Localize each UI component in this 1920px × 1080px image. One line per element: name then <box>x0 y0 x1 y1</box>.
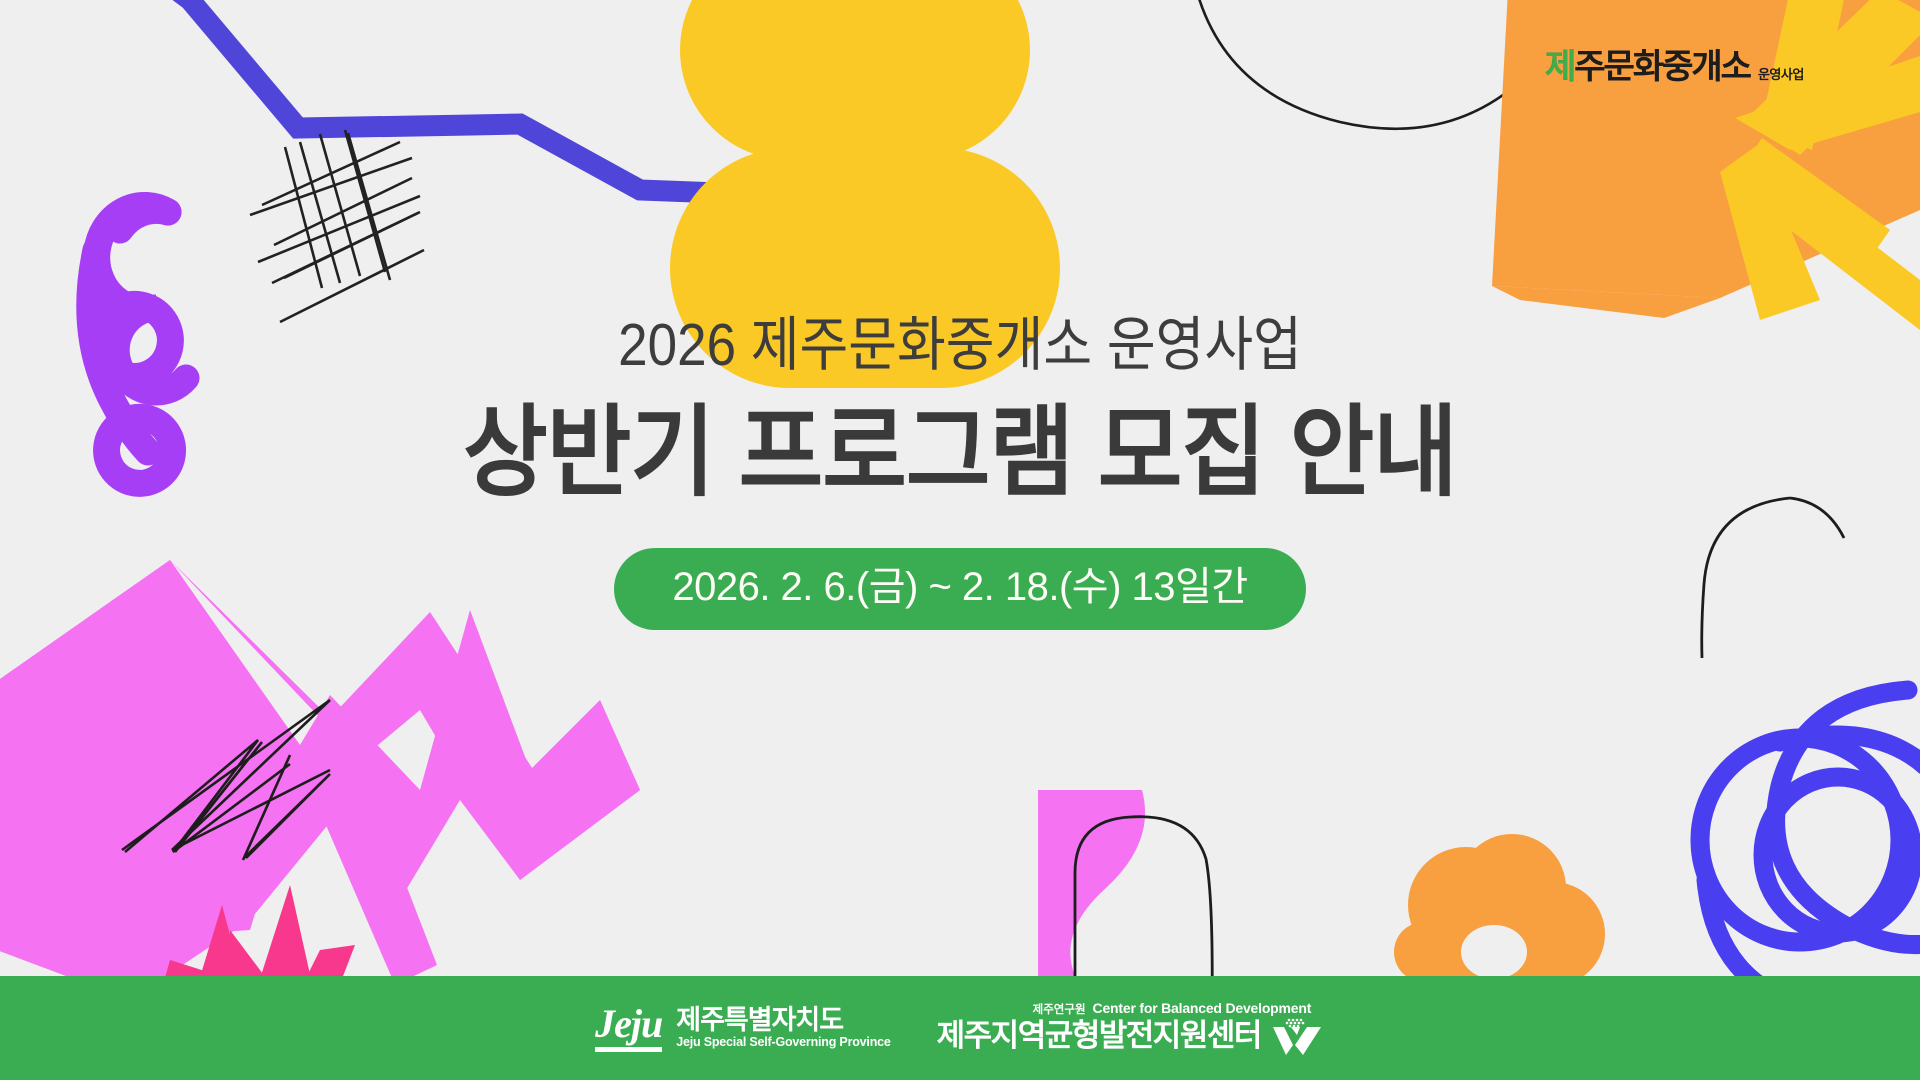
cbd-institute-kr: 제주연구원 <box>1033 1005 1086 1017</box>
jeju-province-logo: Jeju 제주특별자치도 Jeju Special Self-Governing… <box>595 1004 891 1052</box>
indigo-zigzag-line <box>150 0 720 193</box>
brand-logo-mark: 제주문화중개소 <box>1545 50 1750 84</box>
orange-angled-band-lower <box>1492 286 1720 318</box>
jeju-name-group: 제주특별자치도 Jeju Special Self-Governing Prov… <box>676 1006 890 1051</box>
poster-canvas: 제주문화중개소 운영사업 2026 제주문화중개소 운영사업 상반기 프로그램 … <box>0 0 1920 1080</box>
date-badge: 2026. 2. 6.(금) ~ 2. 18.(수) 13일간 <box>614 548 1305 630</box>
cbd-upper-line: 제주연구원 Center for Balanced Development <box>937 1001 1312 1017</box>
headline-block: 2026 제주문화중개소 운영사업 상반기 프로그램 모집 안내 2026. 2… <box>0 316 1920 630</box>
footer-bar: Jeju 제주특별자치도 Jeju Special Self-Governing… <box>0 976 1920 1080</box>
jeju-name-en: Jeju Special Self-Governing Province <box>676 1035 890 1050</box>
jeju-name-kr: 제주특별자치도 <box>676 1006 890 1036</box>
crosshatch-grid <box>250 130 424 322</box>
thin-arc-curve <box>1190 0 1540 129</box>
vx-logo-mark <box>1273 1017 1325 1055</box>
jeju-wordmark: Jeju <box>595 1004 662 1052</box>
brand-logo: 제주문화중개소 운영사업 <box>1545 26 1890 84</box>
eyebrow-text: 2026 제주문화중개소 운영사업 <box>618 312 1302 380</box>
page-title: 상반기 프로그램 모집 안내 <box>463 401 1457 505</box>
brand-logo-sublabel: 운영사업 <box>1758 68 1804 84</box>
cbd-lower-line: 제주지역균형발전지원센터 <box>937 1017 1325 1055</box>
cbd-name-en: Center for Balanced Development <box>1093 1001 1312 1015</box>
balanced-development-center-logo: 제주연구원 Center for Balanced Development 제주… <box>937 1001 1325 1055</box>
black-scribble-zigzag <box>122 700 330 860</box>
cbd-name-kr: 제주지역균형발전지원센터 <box>937 1018 1261 1054</box>
indigo-loop-scribble <box>1700 690 1920 1013</box>
